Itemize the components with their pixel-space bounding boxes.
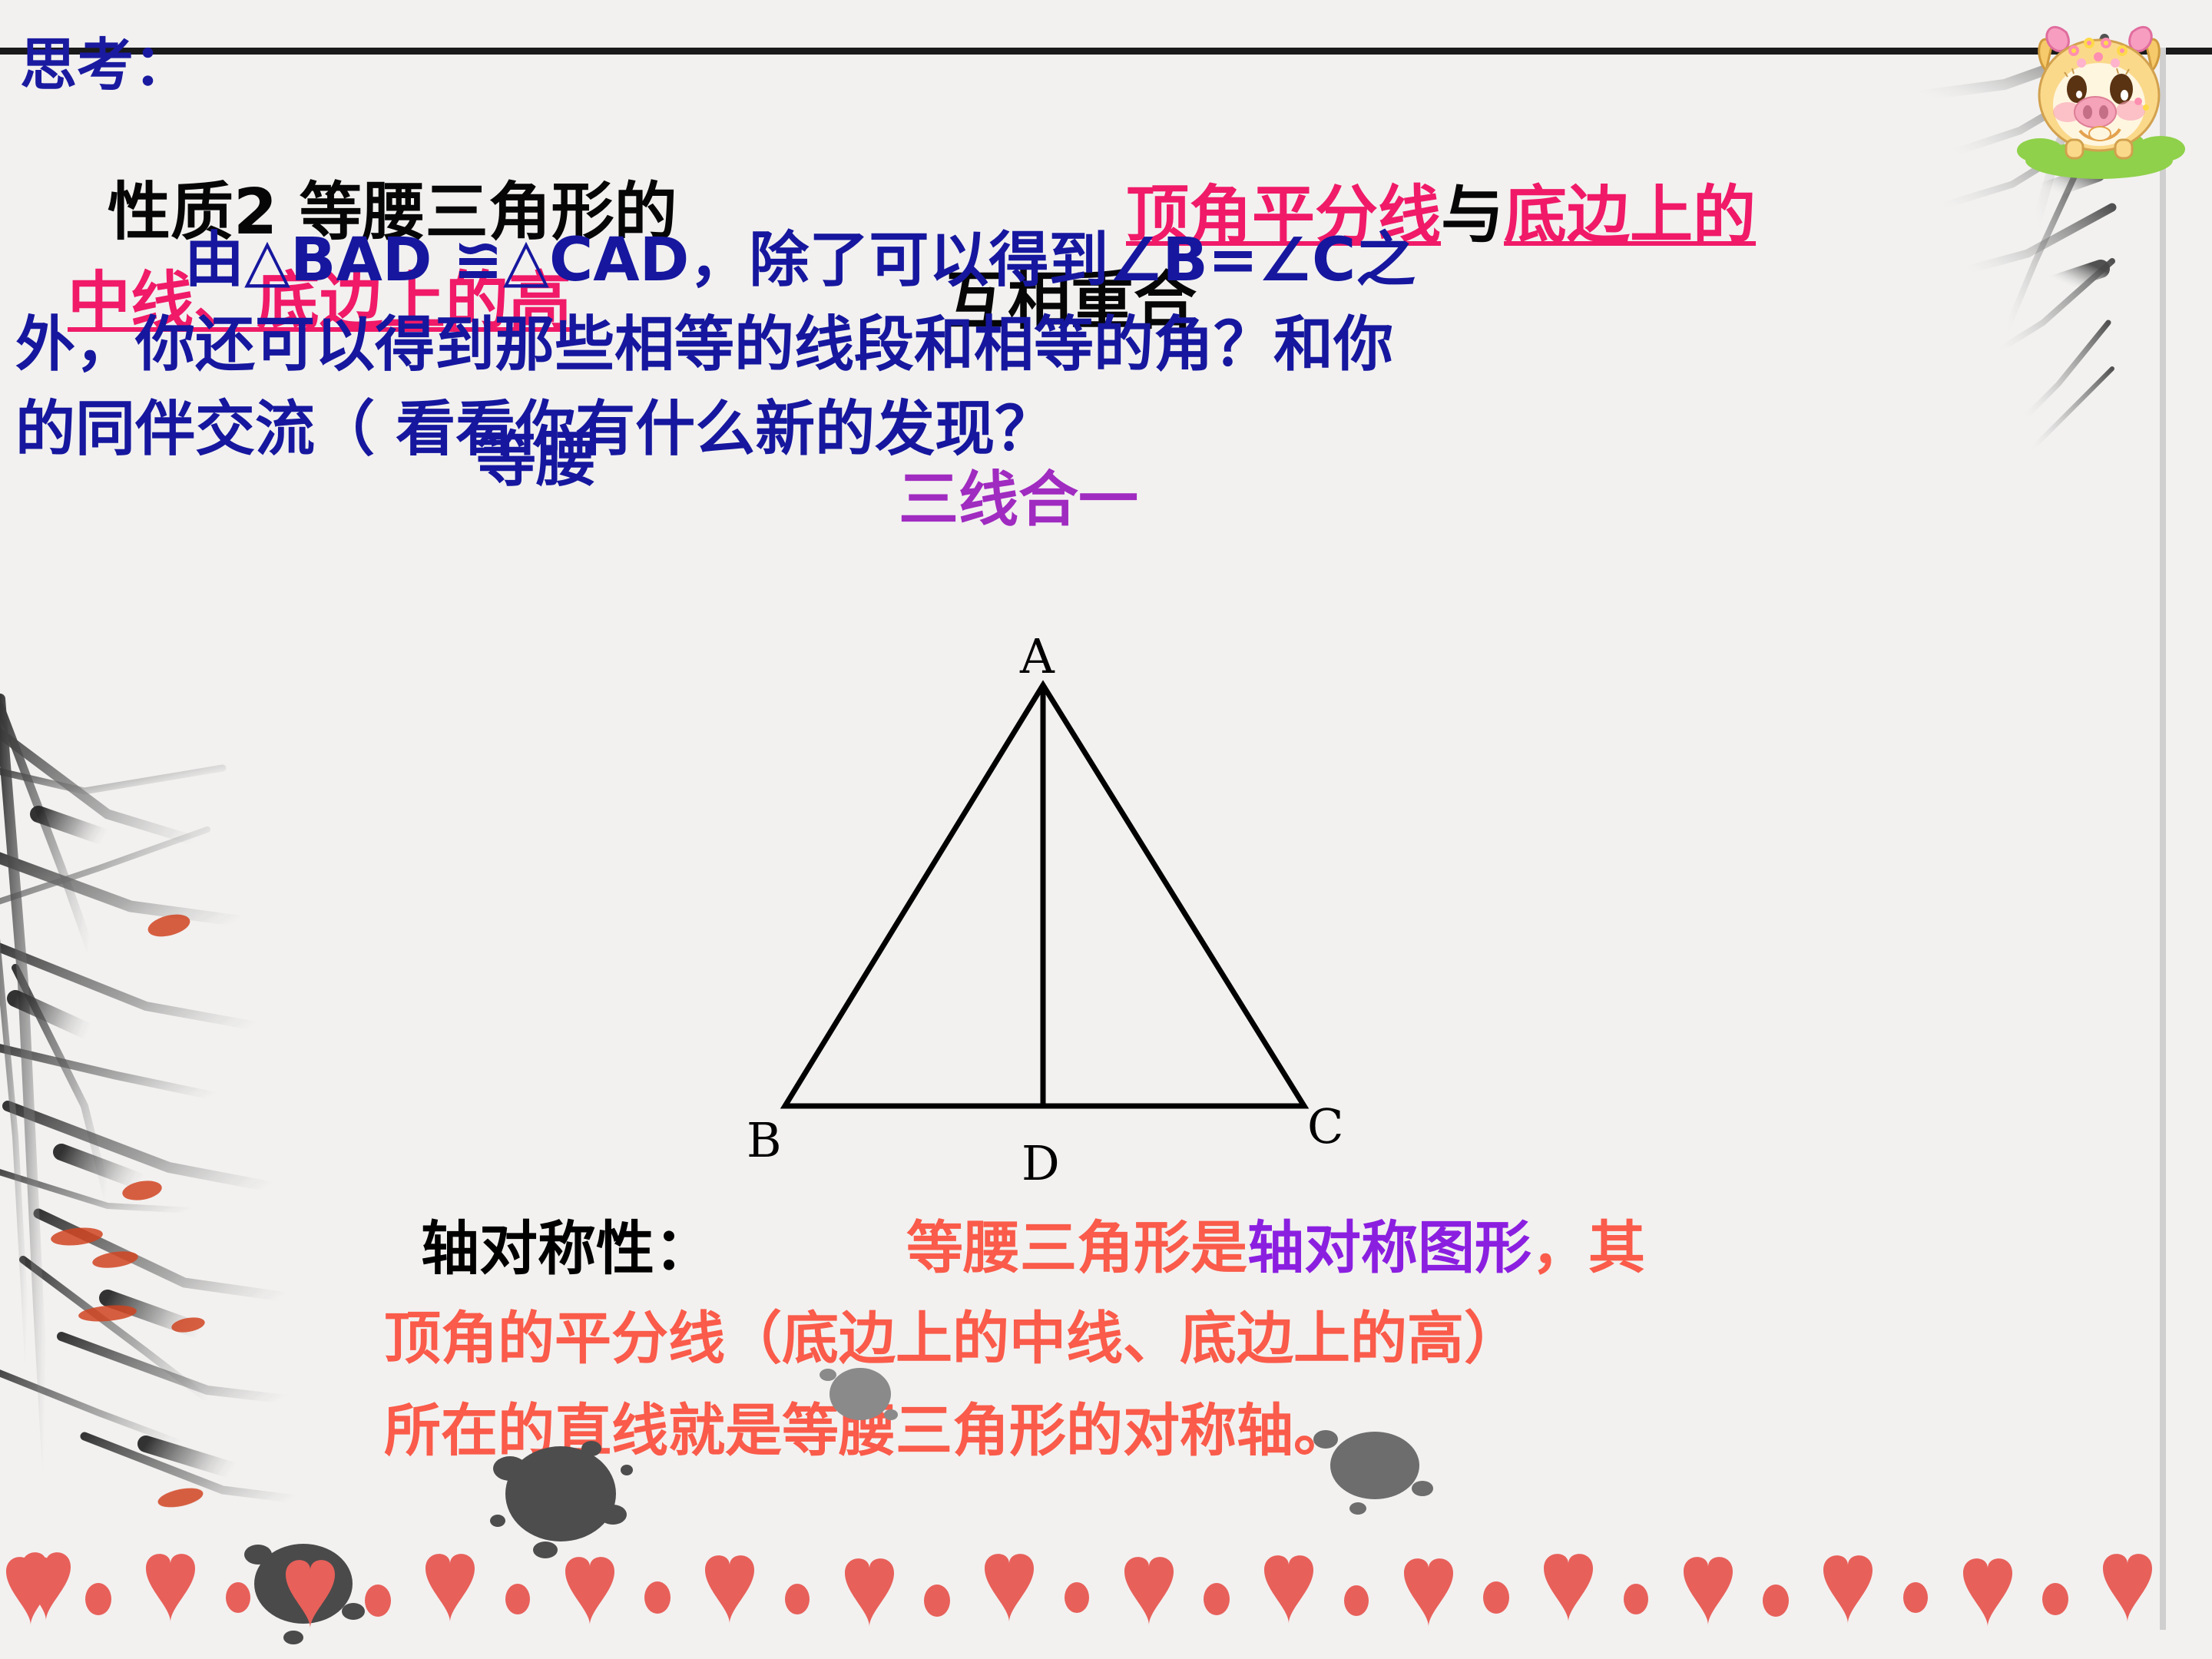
vertex-label-C: C xyxy=(1307,1098,1343,1154)
pink-text-prefix: 底边上的 xyxy=(1504,179,1756,252)
conclusion-line-2: 顶角的平分线（底边上的中线、底边上的高） xyxy=(384,1310,1521,1367)
question-line-3-blue-insert: 等腰 xyxy=(476,430,596,490)
vertex-label-A: A xyxy=(1020,628,1055,684)
isosceles-triangle-diagram xyxy=(730,614,1359,1183)
bamboo-ink-painting-left xyxy=(0,676,353,1613)
conclusion-purple: 轴对称图形 xyxy=(1247,1215,1532,1281)
vertex-label-B: B xyxy=(747,1112,782,1168)
conclusion-red-a: 等腰三角形是 xyxy=(906,1215,1247,1281)
vertex-label-D: D xyxy=(1022,1135,1060,1191)
conclusion-red-b: ，其 xyxy=(1532,1215,1645,1281)
frame-border-bottom xyxy=(0,51,2212,81)
frame-border-right-inner xyxy=(2160,48,2166,1630)
frame-border-top xyxy=(0,0,2212,51)
conclusion-label: 轴对称性： xyxy=(421,1220,713,1278)
heart-border xyxy=(0,1547,2212,1631)
cartoon-pig-icon xyxy=(2003,3,2195,180)
slide-canvas: 思考： 性质2 等腰三角形的 互相重合 顶角平分线与底边上的 中线、底边上的高 … xyxy=(0,0,2212,1659)
page-title: 思考： xyxy=(20,37,190,94)
property-black-connector: 与 xyxy=(1441,184,1504,247)
conclusion-line-1: 等腰三角形是轴对称图形，其 xyxy=(906,1220,1645,1277)
conclusion-line-3: 所在的直线就是等腰三角形的对称轴。 xyxy=(384,1402,1350,1459)
question-line-1: 由△BAD ≌△CAD，除了可以得到∠B=∠C之 xyxy=(184,230,1416,290)
question-purple-three-in-one: 三线合一 xyxy=(899,470,1138,530)
question-line-2: 外，你还可以得到那些相等的线段和相等的角？和你 xyxy=(15,315,1393,375)
